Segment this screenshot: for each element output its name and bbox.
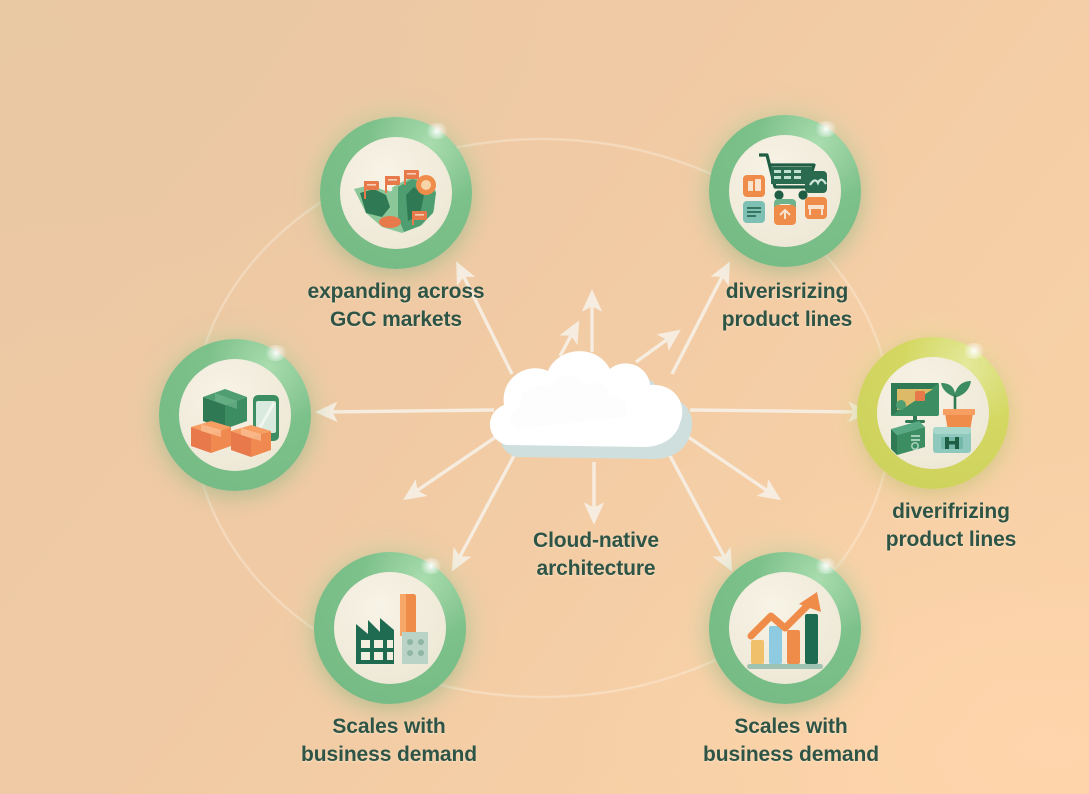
node-scales-with-business-demand-left[interactable] [314, 552, 466, 704]
node-label-right: diverifrizing product lines [836, 498, 1066, 553]
node-label-bottom-left: Scales with business demand [276, 713, 502, 768]
node-expanding-across-gcc-markets[interactable] [320, 117, 472, 269]
node-label-top-left: expanding across GCC markets [280, 278, 512, 333]
cloud-icon [478, 333, 706, 465]
node-diversifying-product-lines-right[interactable] [857, 337, 1009, 489]
node-inner [877, 357, 989, 469]
diagram-canvas: expanding across GCC markets [0, 0, 1089, 794]
center-label: Cloud-native architecture [498, 527, 694, 582]
growth-bar-chart-icon [729, 572, 841, 684]
node-diversifying-product-lines-top[interactable] [709, 115, 861, 267]
node-inner [729, 572, 841, 684]
node-inner [179, 359, 291, 471]
arrow-to-left [326, 410, 494, 412]
factory-icon [334, 572, 446, 684]
node-inner [340, 137, 452, 249]
node-boxes-and-mobile[interactable] [159, 339, 311, 491]
boxes-and-smartphone-icon [179, 359, 291, 471]
node-inner [729, 135, 841, 247]
shopping-cart-categories-icon [729, 135, 841, 247]
gcc-map-pins-icon [340, 137, 452, 249]
tv-plant-box-appliance-icon [877, 357, 989, 469]
node-label-top-right: diverisrizing product lines [676, 278, 898, 333]
arrow-to-right [690, 410, 860, 412]
node-inner [334, 572, 446, 684]
node-label-bottom-right: Scales with business demand [678, 713, 904, 768]
node-scales-with-business-demand-right[interactable] [709, 552, 861, 704]
